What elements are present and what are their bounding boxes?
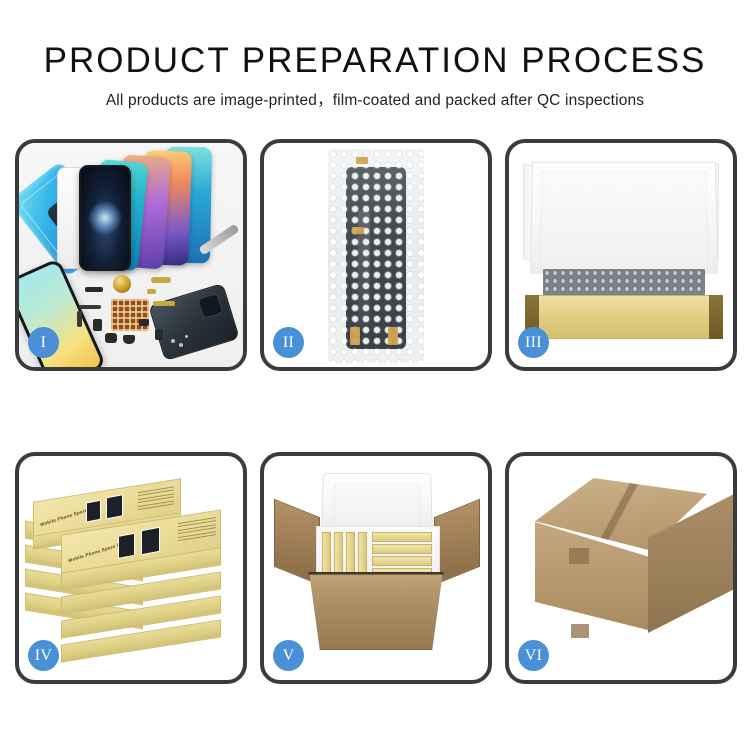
step-badge-5: V: [273, 640, 304, 671]
flex-cable-3: [153, 301, 175, 306]
process-step-card-2: II: [260, 139, 492, 371]
box-product-image-back-2: [106, 494, 123, 519]
copper-coil-part: [113, 275, 131, 293]
step-badge-1: I: [28, 327, 59, 358]
product-preparation-infographic: PRODUCT PREPARATION PROCESS All products…: [0, 0, 750, 750]
step-badge-4: IV: [28, 640, 59, 671]
screw-2: [179, 343, 183, 347]
process-step-card-3: III: [505, 139, 737, 371]
process-step-card-5: V: [260, 452, 492, 684]
flex-cable-4: [79, 305, 101, 309]
chip-part-6: [139, 319, 149, 326]
carton-body: [302, 574, 450, 650]
process-step-card-6: VI: [505, 452, 737, 684]
box-product-image-front-1: [118, 533, 135, 559]
front-glass-assembly: [79, 165, 131, 271]
step-badge-2: II: [273, 327, 304, 358]
flex-cable-5: [77, 311, 82, 327]
carton-tape-lower: [571, 624, 589, 638]
screw-1: [171, 339, 175, 343]
box-product-image-front-2: [141, 527, 160, 556]
box-spec-lines-front: [178, 517, 216, 543]
tape-strip-4: [388, 327, 398, 345]
process-step-card-4: Mobile Phone Spare Parts Mobile Phone Sp…: [15, 452, 247, 684]
bubble-texture: [328, 149, 424, 363]
kraft-box-base: [525, 295, 723, 339]
step-badge-3: III: [518, 327, 549, 358]
chip-part-3: [93, 319, 102, 331]
page-title: PRODUCT PREPARATION PROCESS: [0, 40, 750, 82]
carton-tape-upper: [569, 548, 589, 564]
tape-strip-2: [352, 227, 364, 234]
foam-lid: [530, 162, 718, 274]
box-spec-lines-back: [138, 486, 174, 512]
header: PRODUCT PREPARATION PROCESS All products…: [0, 40, 750, 111]
circuit-board-part: [111, 299, 149, 331]
process-step-card-1: I: [15, 139, 247, 371]
page-subtitle: All products are image-printed，film-coat…: [0, 91, 750, 111]
chip-part-2: [105, 333, 117, 343]
tape-strip-1: [356, 157, 368, 164]
flex-cable-1: [151, 277, 171, 283]
screw-3: [185, 335, 188, 338]
flex-cable-2: [147, 289, 156, 294]
chip-part-5: [155, 329, 163, 340]
box-product-image-back-1: [86, 500, 101, 523]
tape-strip-3: [350, 327, 360, 345]
chip-part-1: [85, 287, 103, 292]
process-step-grid: I II: [15, 139, 737, 684]
box-base-right-edge: [709, 295, 723, 339]
bubble-wrap-bag: [328, 149, 424, 363]
step-badge-6: VI: [518, 640, 549, 671]
retail-box-stack: Mobile Phone Spare Parts Mobile Phone Sp…: [25, 478, 237, 668]
chip-part-4: [123, 335, 135, 344]
